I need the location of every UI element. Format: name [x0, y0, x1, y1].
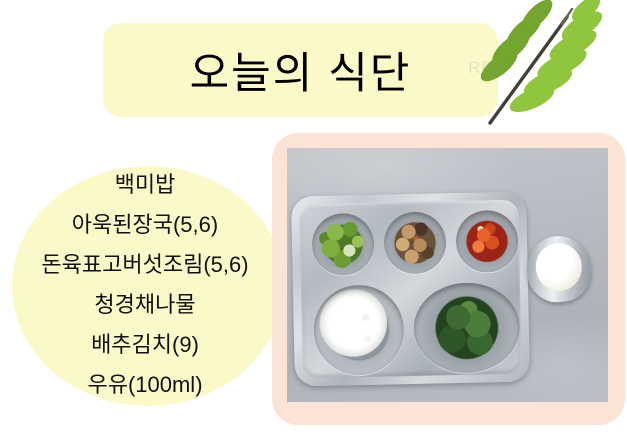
dish-rice: [313, 284, 405, 376]
menu-list: 백미밥 아욱된장국(5,6) 돈육표고버섯조림(5,6) 청경채나물 배추김치(…: [0, 140, 290, 430]
menu-item: 청경채나물: [94, 286, 195, 324]
dish-pork: [383, 211, 446, 274]
dish-vegetable: [311, 213, 374, 276]
menu-item: 돈육표고버섯조림(5,6): [41, 246, 248, 284]
menu-item: 백미밥: [115, 166, 176, 204]
dish-kimchi: [455, 210, 518, 273]
menu-item: 우유(100ml): [87, 366, 202, 404]
page-title: 오늘의 식단: [103, 23, 498, 117]
lunch-tray: [291, 192, 530, 387]
tray-inner-surface: [299, 200, 522, 379]
milk-liquid: [533, 241, 584, 294]
menu-item: 배추김치(9): [91, 326, 199, 364]
watermark-text: RF: [468, 58, 493, 78]
leaf-branch-icon: [472, 0, 627, 125]
dish-soup: [413, 282, 521, 374]
lunch-tray-photo: [287, 148, 608, 402]
menu-item: 아욱된장국(5,6): [72, 206, 218, 244]
